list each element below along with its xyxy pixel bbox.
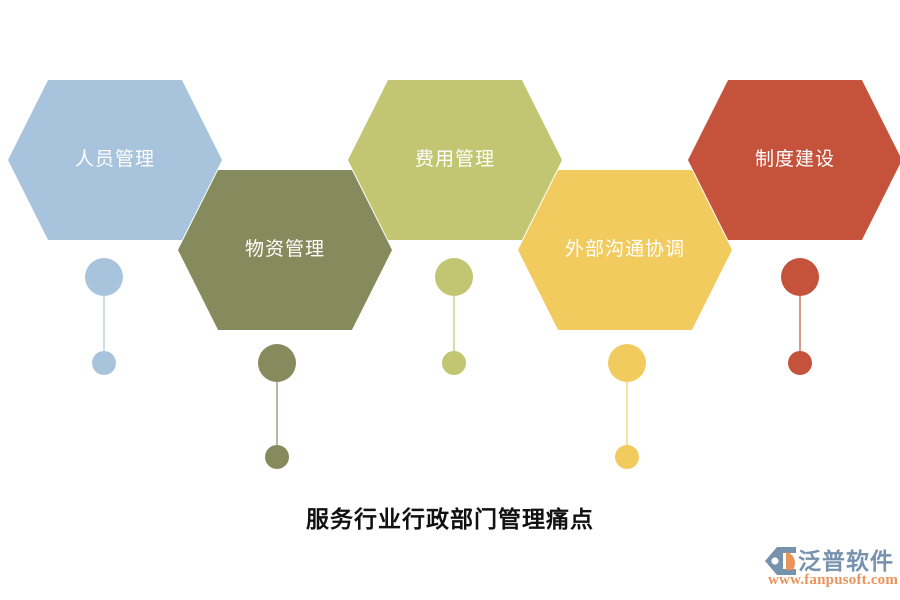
- hexagon-label: 物资管理: [245, 238, 325, 260]
- hex-node-2[interactable]: 物资管理: [178, 170, 392, 469]
- bullet-circle-large[interactable]: [435, 258, 473, 296]
- hexagon-label: 外部沟通协调: [565, 238, 685, 260]
- bullet-circle-large[interactable]: [85, 258, 123, 296]
- hex-node-4[interactable]: 外部沟通协调: [518, 170, 732, 469]
- bullet-circle-small[interactable]: [265, 445, 289, 469]
- bullet-circle-large[interactable]: [781, 258, 819, 296]
- infographic-canvas: 人员管理物资管理费用管理外部沟通协调制度建设 服务行业行政部门管理痛点 泛普软件…: [0, 0, 900, 600]
- hexagon-label: 人员管理: [75, 148, 155, 170]
- hexagon-label: 制度建设: [755, 148, 835, 170]
- hexagon-label: 费用管理: [415, 148, 495, 170]
- bullet-circle-small[interactable]: [442, 351, 466, 375]
- bullet-circle-large[interactable]: [258, 344, 296, 382]
- brand-logo: 泛普软件 www.fanpusoft.com: [762, 542, 894, 594]
- page-title: 服务行业行政部门管理痛点: [0, 500, 900, 534]
- bullet-circle-small[interactable]: [615, 445, 639, 469]
- bullet-circle-large[interactable]: [608, 344, 646, 382]
- bullet-circle-small[interactable]: [788, 351, 812, 375]
- bullet-circle-small[interactable]: [92, 351, 116, 375]
- logo-company-name: 泛普软件: [798, 542, 894, 576]
- logo-website-url: www.fanpusoft.com: [768, 572, 898, 589]
